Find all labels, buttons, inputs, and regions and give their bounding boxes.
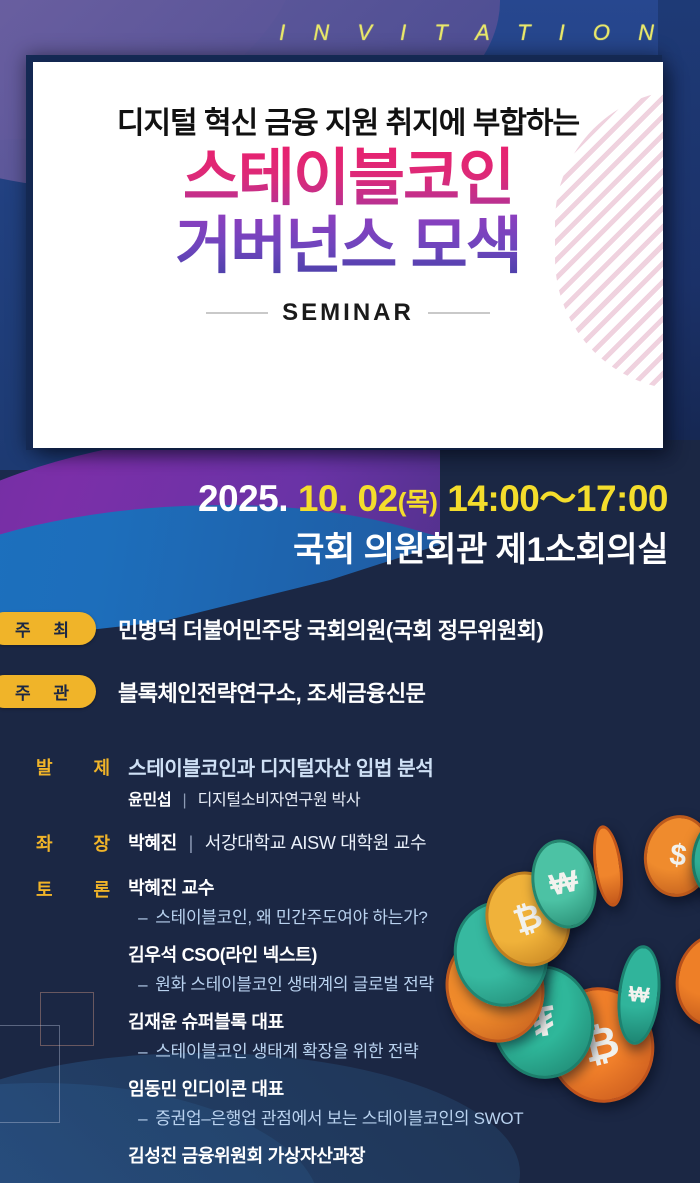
program-row-discussion: 토 론 박혜진 교수 –스테이블코인, 왜 민간주도여야 하는가? 김우석 CS… [34,874,594,1171]
panelist-item: 김성진 금융위원회 가상자산과장 [128,1142,594,1168]
program-label-discussion: 토 론 [34,874,128,1171]
presentation-speaker: 윤민섭 | 디지털소비자연구원 박사 [128,786,594,810]
event-date: 10. 02 [298,478,398,519]
program-label-presentation: 발 제 [34,752,128,810]
presentation-separator: | [183,792,187,809]
panelist-dash: – [138,1042,147,1061]
program-spacer-1 [34,812,594,828]
panelist-dash: – [138,908,147,927]
chair-separator: | [189,833,193,853]
event-year: 2025. [198,478,288,519]
background-right-band [658,0,700,470]
panelist-name: 임동민 인디이콘 대표 [128,1075,594,1101]
panelist-topic-line: –원화 스테이블코인 생태계의 글로벌 전략 [128,970,594,995]
program-body-presentation: 스테이블코인과 디지털자산 입법 분석 윤민섭 | 디지털소비자연구원 박사 [128,752,594,810]
presentation-speaker-name: 윤민섭 [128,792,171,809]
panelist-dash: – [138,975,147,994]
seminar-label-row: SEMINAR [33,299,663,327]
seminar-rule-right [428,312,490,314]
chair-line: 박혜진 | 서강대학교 AISW 대학원 교수 [128,828,594,855]
panelist-topic: 원화 스테이블코인 생태계의 글로벌 전략 [155,975,433,994]
panelist-item: 김우석 CSO(라인 넥스트) –원화 스테이블코인 생태계의 글로벌 전략 [128,941,594,995]
panelist-dash: – [138,1109,147,1128]
program-body-discussion: 박혜진 교수 –스테이블코인, 왜 민간주도여야 하는가? 김우석 CSO(라인… [128,874,594,1171]
panelist-name: 박혜진 교수 [128,874,594,900]
event-day-of-week: (목) [398,487,438,517]
card-kicker-text: 디지털 혁신 금융 지원 취지에 부합하는 [33,98,663,142]
panelist-item: 임동민 인디이콘 대표 –증권업–은행업 관점에서 보는 스테이블코인의 SWO… [128,1075,594,1129]
presentation-speaker-affiliation: 디지털소비자연구원 박사 [198,792,361,809]
title-card: 디지털 혁신 금융 지원 취지에 부합하는 스테이블코인 거버넌스 모색 SEM… [33,62,663,448]
panelist-topic-line: –스테이블코인, 왜 민간주도여야 하는가? [128,903,594,928]
seminar-label: SEMINAR [282,299,414,327]
chair-name: 박혜진 [128,833,177,853]
panelist-topic: 스테이블코인 생태계 확장을 위한 전략 [155,1042,418,1061]
panelist-topic: 증권업–은행업 관점에서 보는 스테이블코인의 SWOT [155,1109,523,1128]
main-title-line-2: 거버넌스 모색 [33,214,663,280]
invitation-poster: I N V I T A T I O N 디지털 혁신 금융 지원 취지에 부합하… [0,0,700,1183]
program-row-presentation: 발 제 스테이블코인과 디지털자산 입법 분석 윤민섭 | 디지털소비자연구원 … [34,752,594,810]
host-row-supervisor: 주 관 블록체인전략연구소, 조세금융신문 [0,675,425,708]
panelist-topic-line: –증권업–은행업 관점에서 보는 스테이블코인의 SWOT [128,1104,594,1129]
panelist-topic: 스테이블코인, 왜 민간주도여야 하는가? [155,908,427,927]
panelist-name: 김성진 금융위원회 가상자산과장 [128,1142,594,1168]
host-value-supervisor: 블록체인전략연구소, 조세금융신문 [118,676,425,708]
panelist-name: 김우석 CSO(라인 넥스트) [128,941,594,967]
panelist-name: 김재윤 슈퍼블록 대표 [128,1008,594,1034]
chair-affiliation: 서강대학교 AISW 대학원 교수 [205,833,427,853]
program-body-chair: 박혜진 | 서강대학교 AISW 대학원 교수 [128,828,594,856]
seminar-rule-left [206,312,268,314]
host-badge-organizer: 주 최 [0,612,96,645]
invitation-eyebrow-text: I N V I T A T I O N [279,20,665,46]
program-spacer-2 [34,858,594,874]
host-badge-supervisor: 주 관 [0,675,96,708]
event-datetime: 2025. 10. 02(목) 14:00〜17:00 [198,468,668,522]
panelist-item: 김재윤 슈퍼블록 대표 –스테이블코인 생태계 확장을 위한 전략 [128,1008,594,1062]
program-section: 발 제 스테이블코인과 디지털자산 입법 분석 윤민섭 | 디지털소비자연구원 … [34,752,594,1173]
program-row-chair: 좌 장 박혜진 | 서강대학교 AISW 대학원 교수 [34,828,594,856]
event-venue: 국회 의원회관 제1소회의실 [293,522,668,571]
main-title-line-1: 스테이블코인 [33,146,663,212]
host-row-organizer: 주 최 민병덕 더불어민주당 국회의원(국회 정무위원회) [0,612,543,645]
panelist-item: 박혜진 교수 –스테이블코인, 왜 민간주도여야 하는가? [128,874,594,928]
event-time: 14:00〜17:00 [447,478,668,519]
panelist-topic-line: –스테이블코인 생태계 확장을 위한 전략 [128,1037,594,1062]
program-label-chair: 좌 장 [34,828,128,856]
host-value-organizer: 민병덕 더불어민주당 국회의원(국회 정무위원회) [118,613,543,645]
presentation-topic: 스테이블코인과 디지털자산 입법 분석 [128,752,594,781]
